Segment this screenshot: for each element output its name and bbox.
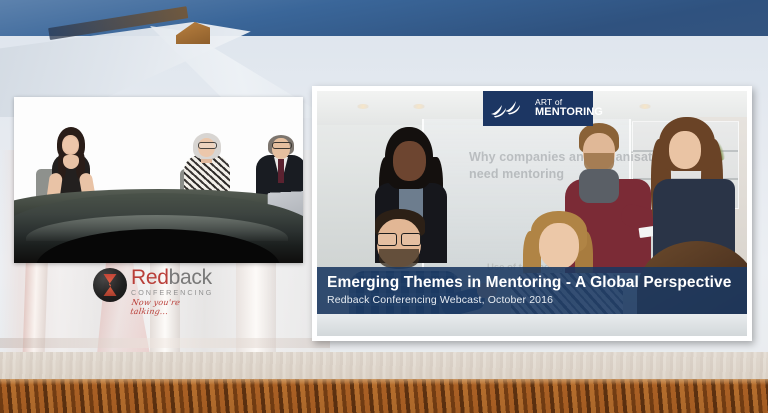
redback-conferencing-logo: Redback CONFERENCING Now you're talking.…	[93, 266, 215, 312]
slide-title-band: Emerging Themes in Mentoring - A Global …	[317, 267, 747, 314]
two-flying-birds-icon	[489, 97, 523, 121]
redback-spider-icon	[93, 268, 127, 302]
logo-word-back: back	[169, 266, 212, 289]
logo-line-2: MENTORING	[535, 107, 603, 119]
logo-tagline: Now you're talking...	[130, 298, 217, 316]
slide-subtitle: Redback Conferencing Webcast, October 20…	[327, 294, 737, 306]
eyeglasses-icon	[377, 233, 421, 244]
studio-panel-video[interactable]	[14, 97, 303, 263]
ceiling-light-icon	[639, 104, 651, 109]
art-of-mentoring-logo: ART of MENTORING	[483, 91, 593, 126]
background-gravel	[0, 352, 768, 382]
background-dirt	[0, 379, 768, 413]
slide-title: Emerging Themes in Mentoring - A Global …	[327, 274, 737, 292]
logo-subtitle: CONFERENCING	[131, 288, 215, 297]
ceiling-light-icon	[413, 104, 425, 109]
logo-word-red: Red	[131, 266, 169, 289]
presentation-slide-panel[interactable]: Why companies and organisations need men…	[312, 86, 752, 341]
office-table	[317, 314, 747, 336]
webcast-frame: Why companies and organisations need men…	[0, 0, 768, 413]
ceiling-light-icon	[357, 104, 369, 109]
slide-content: Why companies and organisations need men…	[317, 91, 747, 336]
background-rail	[0, 338, 330, 348]
